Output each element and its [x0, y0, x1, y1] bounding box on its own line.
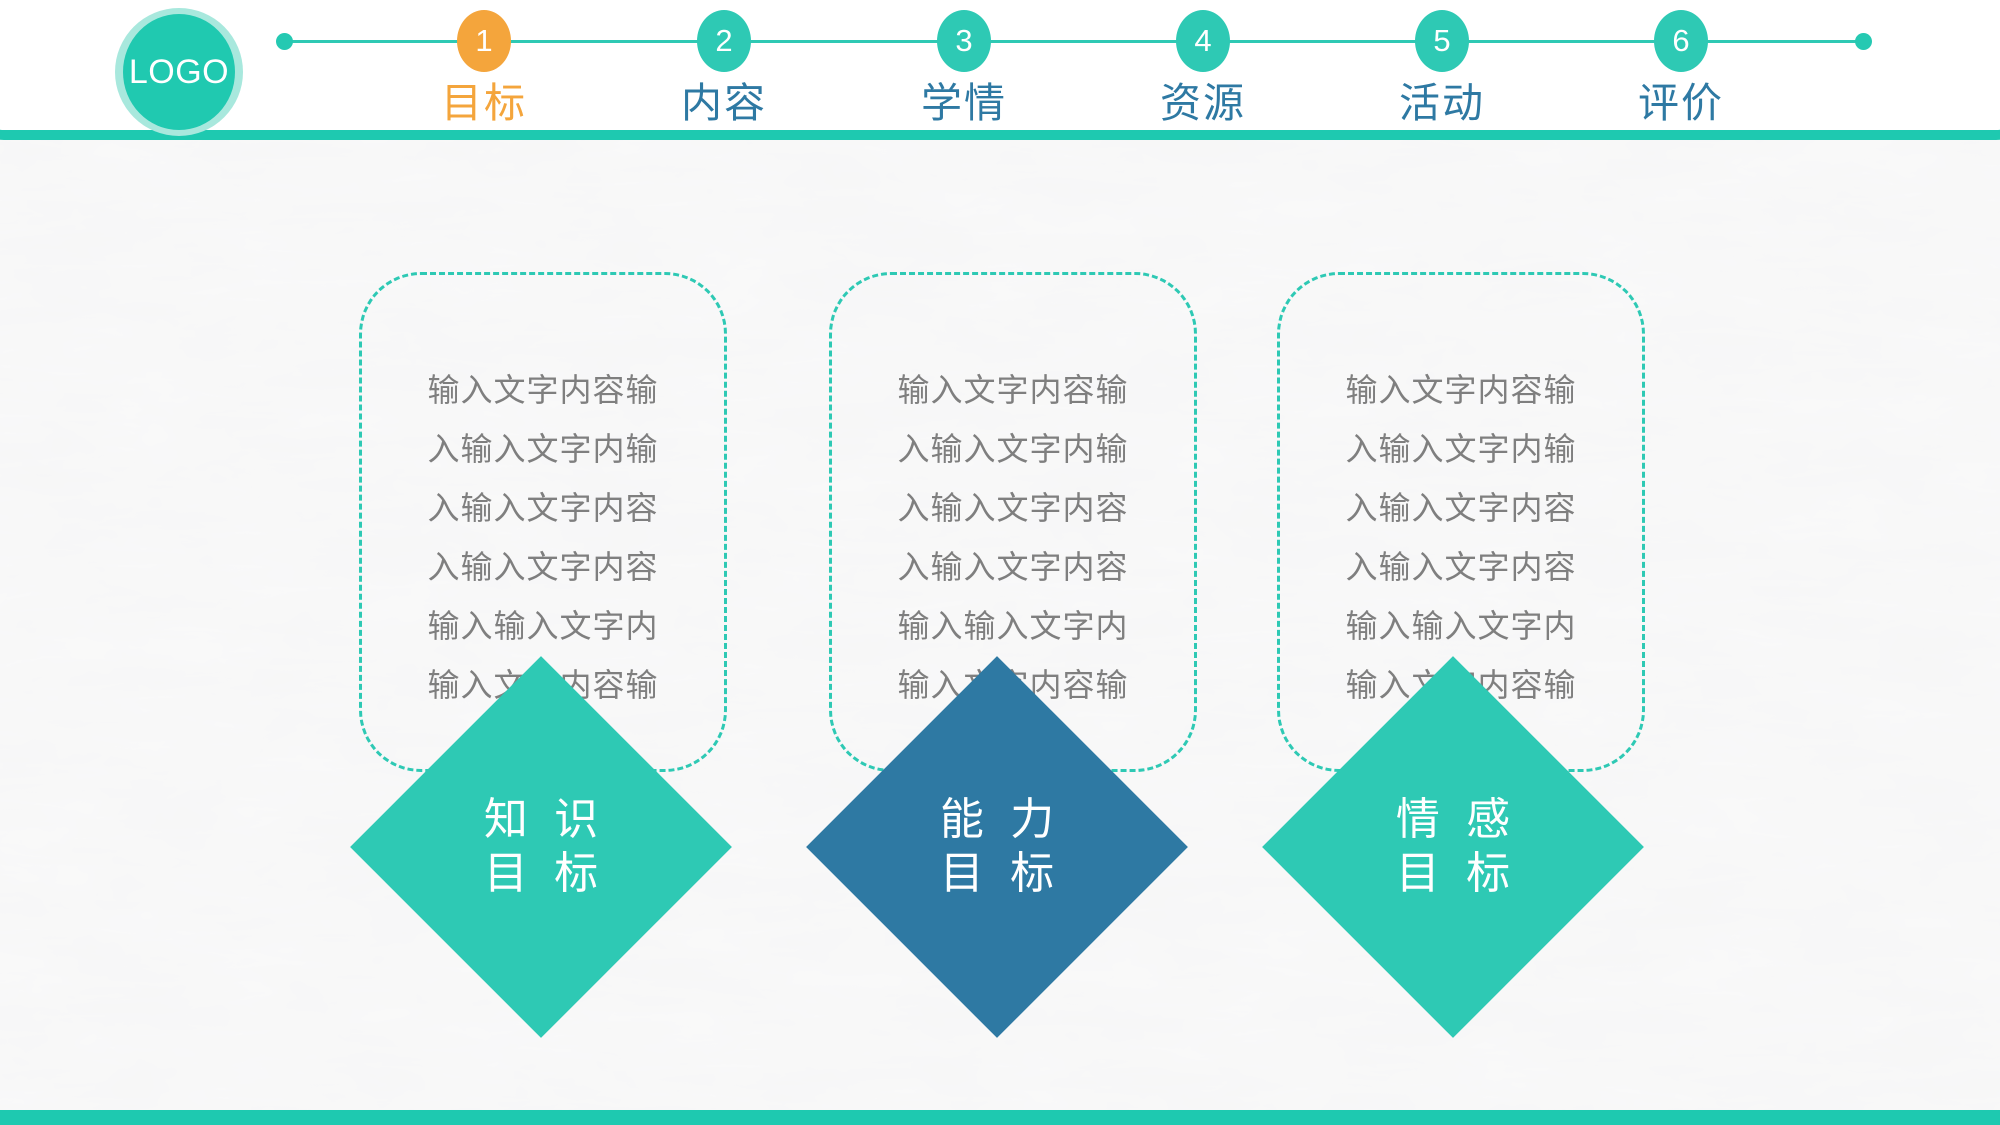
logo[interactable]: LOGO [115, 8, 243, 136]
goal-text-line: 入输入文字内输 [362, 420, 724, 479]
goal-text-line: 入输入文字内容 [362, 479, 724, 538]
step-label-3: 学情 [884, 82, 1044, 125]
goal-text-line: 入输入文字内容 [1280, 538, 1642, 597]
goal-text-line: 输入文字内容输 [832, 361, 1194, 420]
goal-text-line: 入输入文字内输 [832, 420, 1194, 479]
step-label-1: 目标 [404, 82, 564, 125]
diamond-label-3: 情 感 目 标 [1318, 712, 1588, 982]
goal-diamond-1[interactable]: 知 识 目 标 [406, 712, 676, 982]
step-badge-5: 5 [1415, 10, 1469, 72]
goal-text-line: 入输入文字内输 [1280, 420, 1642, 479]
step-item-4[interactable]: 4 资源 [1123, 0, 1283, 125]
diamond-label-top: 知 识 [477, 793, 605, 847]
step-nav: 1 目标 2 内容 3 学情 4 资源 5 活动 6 评价 [0, 0, 2000, 140]
step-badge-6: 6 [1654, 10, 1708, 72]
step-item-2[interactable]: 2 内容 [644, 0, 804, 125]
step-label-2: 内容 [644, 82, 804, 125]
slide-canvas: LOGO 1 目标 2 内容 3 学情 4 资源 5 活动 6 评价 [0, 0, 2000, 1125]
step-item-1[interactable]: 1 目标 [404, 0, 564, 125]
step-badge-3: 3 [937, 10, 991, 72]
step-badge-2: 2 [697, 10, 751, 72]
goal-diamond-3[interactable]: 情 感 目 标 [1318, 712, 1588, 982]
step-label-5: 活动 [1362, 82, 1522, 125]
goal-text-line: 输入输入文字内 [832, 597, 1194, 656]
goal-diamond-2[interactable]: 能 力 目 标 [862, 712, 1132, 982]
step-label-6: 评价 [1601, 82, 1761, 125]
goal-text-line: 输入文字内容输 [1280, 361, 1642, 420]
diamond-label-top: 情 感 [1389, 793, 1517, 847]
diamond-label-top: 能 力 [933, 793, 1061, 847]
diamond-label-bottom: 目 标 [1389, 847, 1517, 901]
logo-label: LOGO [115, 8, 243, 136]
diamond-label-2: 能 力 目 标 [862, 712, 1132, 982]
goal-text-line: 入输入文字内容 [832, 538, 1194, 597]
step-item-3[interactable]: 3 学情 [884, 0, 1044, 125]
diamond-label-bottom: 目 标 [477, 847, 605, 901]
step-badge-1: 1 [457, 10, 511, 72]
diamond-label-bottom: 目 标 [933, 847, 1061, 901]
footer-bar [0, 1110, 2000, 1125]
goal-text-line: 输入文字内容输 [362, 361, 724, 420]
diamond-label-1: 知 识 目 标 [406, 712, 676, 982]
step-item-5[interactable]: 5 活动 [1362, 0, 1522, 125]
goal-text-line: 入输入文字内容 [832, 479, 1194, 538]
goal-columns: 输入文字内容输 入输入文字内输 入输入文字内容 入输入文字内容 输入输入文字内 … [0, 0, 2000, 1125]
step-badge-4: 4 [1176, 10, 1230, 72]
step-item-6[interactable]: 6 评价 [1601, 0, 1761, 125]
goal-text-line: 输入输入文字内 [1280, 597, 1642, 656]
goal-text-line: 输入输入文字内 [362, 597, 724, 656]
step-label-4: 资源 [1123, 82, 1283, 125]
goal-text-line: 入输入文字内容 [362, 538, 724, 597]
goal-text-line: 入输入文字内容 [1280, 479, 1642, 538]
